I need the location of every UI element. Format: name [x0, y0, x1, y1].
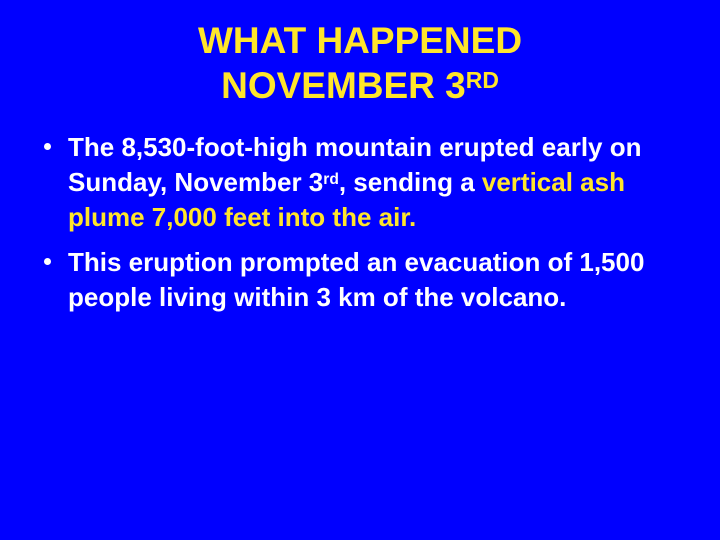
bullet-1-ordinal-suffix: rd: [323, 171, 339, 188]
presentation-slide: WHAT HAPPENED NOVEMBER 3RD The 8,530-foo…: [0, 0, 720, 540]
bullet-2-text: This eruption prompted an evacuation of …: [68, 245, 684, 315]
list-item: This eruption prompted an evacuation of …: [36, 245, 684, 315]
slide-body: The 8,530-foot-high mountain erupted ear…: [36, 130, 684, 315]
bullet-1-text: The 8,530-foot-high mountain erupted ear…: [68, 130, 684, 235]
bullet-point-icon: [44, 258, 51, 265]
list-item: The 8,530-foot-high mountain erupted ear…: [36, 130, 684, 235]
bullet-1-segment-3: , sending a: [339, 167, 482, 197]
bullet-point-icon: [44, 143, 51, 150]
slide-title: WHAT HAPPENED NOVEMBER 3RD: [0, 18, 720, 108]
title-line-2: NOVEMBER 3RD: [0, 63, 720, 108]
title-line-2-main: NOVEMBER 3: [221, 65, 466, 106]
title-ordinal-suffix: RD: [466, 67, 499, 93]
title-line-1: WHAT HAPPENED: [0, 18, 720, 63]
